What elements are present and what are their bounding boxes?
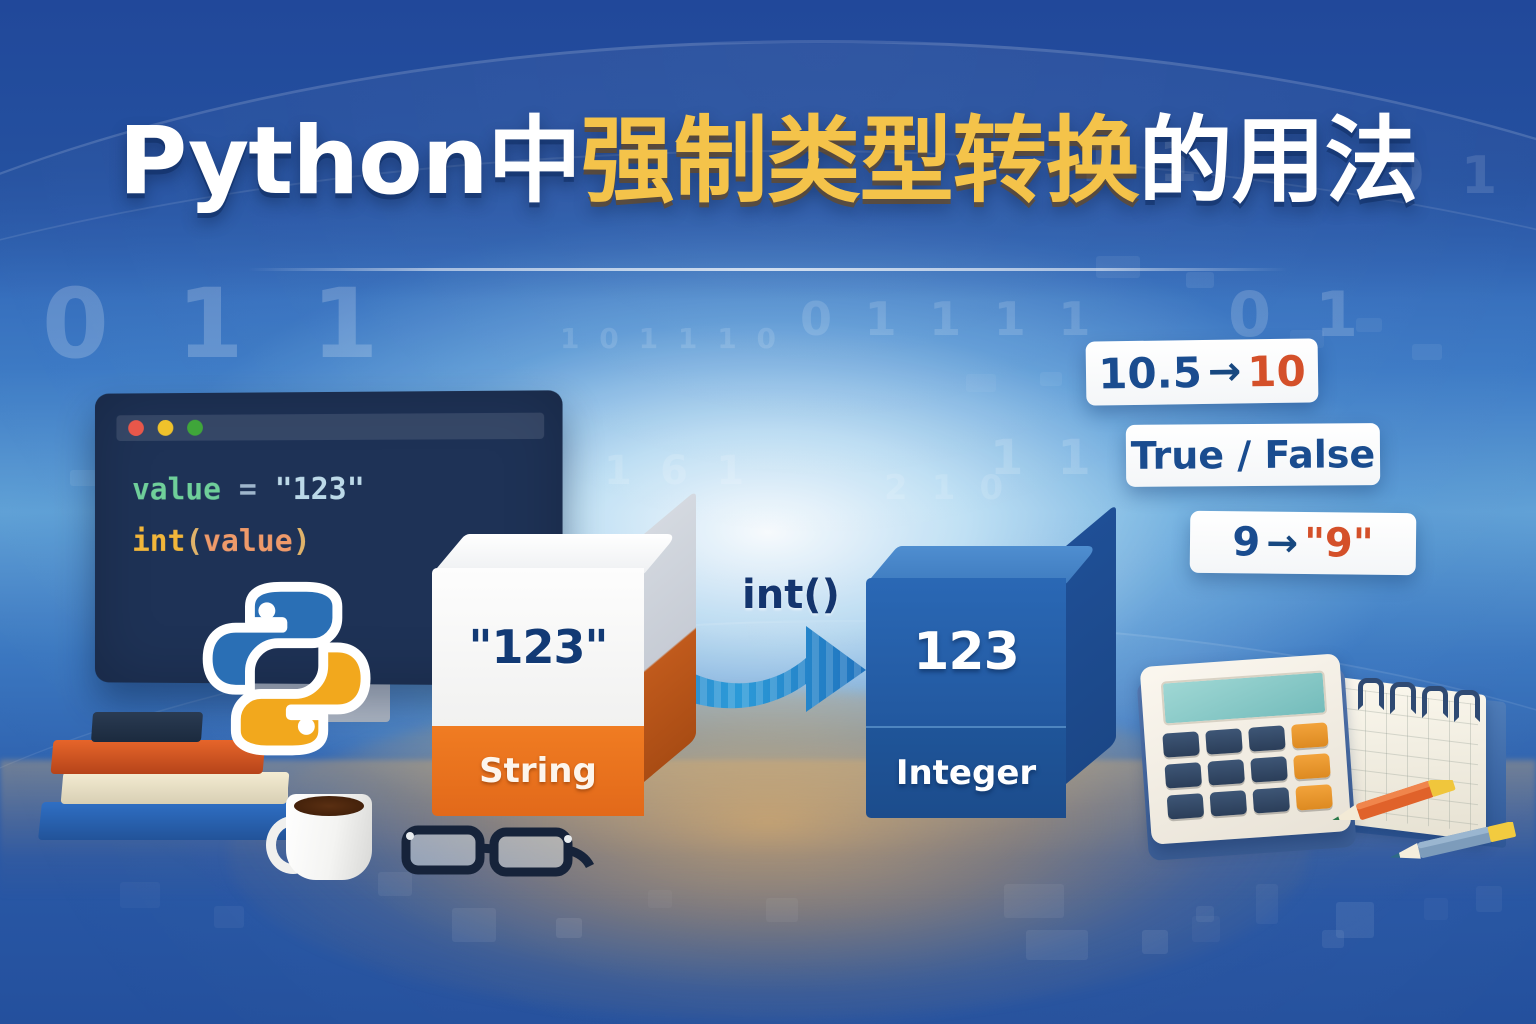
integer-cube-label-face: Integer (866, 726, 1066, 818)
bool-card: True / False (1126, 423, 1380, 487)
orange-pencil (1320, 780, 1470, 825)
calculator-key-accent (1293, 753, 1331, 779)
code-string-literal: "123" (275, 472, 365, 507)
code-block: value = "123" int(value) (132, 464, 365, 568)
yellow-dot-icon (158, 420, 174, 436)
calculator-keypad (1162, 722, 1332, 819)
int-to-string-card: 9→"9" (1190, 511, 1417, 575)
string-cube-value-face: "123" (432, 568, 644, 726)
decorative-pixel (1026, 930, 1088, 960)
code-line-1: value = "123" (132, 464, 365, 516)
decorative-pixel (1004, 884, 1064, 918)
notepad-ring-icon (1422, 686, 1448, 718)
eyeglasses (398, 820, 598, 882)
decorative-pixel (1186, 272, 1214, 288)
card-1-left-value: 10.5 (1098, 348, 1202, 398)
conversion-function-label: int() (742, 572, 840, 618)
code-paren-close: ) (293, 524, 311, 559)
calculator-key (1205, 728, 1243, 754)
string-cube-label: String (479, 751, 597, 791)
calculator-key (1207, 759, 1245, 785)
binary-digit-7: 2 1 0 (884, 468, 1009, 508)
cream-book (61, 772, 290, 804)
notepad-ring-icon (1358, 678, 1384, 710)
decorative-pixel (1142, 930, 1168, 954)
decorative-pixel (214, 906, 244, 928)
code-var-value: value (132, 472, 221, 507)
notepad-ring-icon (1454, 690, 1480, 722)
decorative-pixel (1356, 318, 1382, 332)
page-title: Python中强制类型转换的用法 (0, 112, 1536, 212)
red-dot-icon (128, 420, 144, 436)
integer-cube-label: Integer (896, 753, 1036, 793)
illustration-canvas: 0 1 11 10 10 1 1 1 11 0 1 1 1 01 1 11 6 … (0, 0, 1536, 1024)
calculator-key (1210, 790, 1248, 816)
string-cube: "123" String (432, 568, 644, 816)
integer-cube: 123 Integer (866, 578, 1066, 816)
decorative-pixel (120, 882, 160, 908)
calculator-key (1164, 762, 1202, 788)
navy-book (91, 712, 203, 742)
notepad-ring-icon (1390, 682, 1416, 714)
float-to-int-card: 10.5→10 (1086, 338, 1319, 405)
calculator-key (1248, 725, 1286, 751)
title-segment-gold: 强制类型转换 (581, 112, 1139, 212)
decorative-pixel (1256, 884, 1278, 924)
decorative-pixel (1424, 898, 1448, 920)
card-1-arrow-icon: → (1202, 348, 1248, 395)
calculator-key-accent (1291, 722, 1329, 748)
title-segment-white-1: Python中 (118, 112, 580, 212)
card-3-left-value: 9 (1232, 519, 1260, 565)
decorative-pixel (1040, 372, 1062, 386)
binary-digit-6: 1 6 1 (604, 448, 751, 494)
code-window-titlebar (116, 413, 544, 441)
code-operator-equals: = (221, 472, 275, 507)
integer-cube-value: 123 (913, 622, 1019, 682)
decorative-pixel (556, 918, 582, 938)
calculator-key (1250, 756, 1288, 782)
decorative-pixel (1336, 902, 1374, 938)
binary-digit-0: 0 1 1 (42, 268, 396, 380)
blue-book (38, 802, 302, 840)
decorative-pixel (1196, 906, 1214, 922)
decorative-pixel (648, 890, 672, 908)
coffee-mug (278, 786, 382, 884)
calculator-key (1162, 731, 1200, 757)
python-logo (196, 578, 376, 758)
decorative-pixel (1476, 886, 1502, 912)
code-function-int: int (132, 524, 185, 559)
binary-digit-4: 1 0 1 1 1 0 (560, 322, 781, 355)
calculator (1140, 653, 1353, 856)
code-paren-open: ( (185, 524, 203, 559)
string-cube-label-face: String (432, 726, 644, 816)
calculator-display (1161, 670, 1328, 725)
decorative-pixel (1412, 344, 1442, 360)
decorative-pixel (452, 908, 496, 942)
card-2-value: True / False (1131, 432, 1376, 478)
calculator-key (1252, 787, 1290, 813)
coffee-surface (294, 796, 364, 816)
calculator-key (1167, 793, 1205, 819)
decorative-pixel (966, 374, 996, 392)
blue-pencil (1382, 822, 1532, 867)
card-3-arrow-icon: → (1260, 521, 1304, 565)
string-cube-value: "123" (469, 620, 608, 674)
card-1-right-value: 10 (1247, 346, 1306, 396)
binary-digit-3: 0 1 1 1 1 (800, 292, 1099, 346)
title-segment-white-2: 的用法 (1139, 112, 1418, 212)
title-underline-rule (248, 268, 1288, 271)
code-argument-value: value (203, 524, 293, 559)
decorative-pixel (1096, 256, 1140, 278)
green-dot-icon (187, 420, 203, 436)
integer-cube-value-face: 123 (866, 578, 1066, 726)
decorative-pixel (766, 898, 798, 922)
card-3-right-value: "9" (1304, 520, 1374, 567)
code-line-2: int(value) (132, 516, 365, 568)
